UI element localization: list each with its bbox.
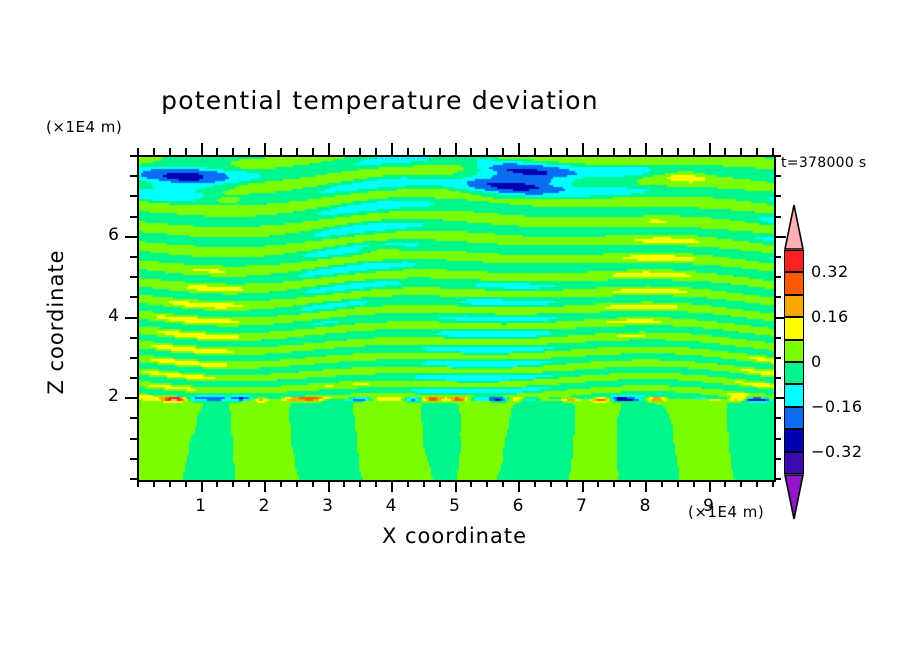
x-major-tick bbox=[391, 480, 393, 492]
y-major-tick bbox=[125, 236, 137, 238]
x-minor-tick bbox=[185, 480, 187, 487]
y-minor-tick-right bbox=[774, 478, 781, 480]
x-minor-tick-top bbox=[772, 148, 774, 155]
x-minor-tick-top bbox=[296, 148, 298, 155]
y-minor-tick-right bbox=[774, 155, 781, 157]
x-minor-tick-top bbox=[232, 148, 234, 155]
x-minor-tick bbox=[502, 480, 504, 487]
x-minor-tick bbox=[169, 480, 171, 487]
x-minor-tick-top bbox=[724, 148, 726, 155]
y-minor-tick-right bbox=[774, 458, 781, 460]
x-minor-tick bbox=[312, 480, 314, 487]
y-minor-tick-right bbox=[774, 256, 781, 258]
y-major-tick bbox=[125, 397, 137, 399]
y-minor-tick bbox=[130, 276, 137, 278]
x-minor-tick-top bbox=[566, 148, 568, 155]
y-tick-label: 2 bbox=[89, 386, 119, 406]
x-tick-label: 6 bbox=[503, 496, 533, 516]
x-minor-tick bbox=[661, 480, 663, 487]
x-minor-tick-top bbox=[740, 148, 742, 155]
y-minor-tick bbox=[130, 296, 137, 298]
contour-plot-area bbox=[137, 155, 776, 482]
y-minor-tick bbox=[130, 357, 137, 359]
page-title: potential temperature deviation bbox=[0, 86, 760, 115]
x-major-tick bbox=[201, 480, 203, 492]
y-minor-tick bbox=[130, 458, 137, 460]
timestamp-annotation: t=378000 s bbox=[781, 155, 866, 171]
x-major-tick-top bbox=[582, 143, 584, 155]
x-minor-tick-top bbox=[550, 148, 552, 155]
colorbar-tick-label: 0 bbox=[811, 352, 822, 371]
x-major-tick bbox=[645, 480, 647, 492]
colorbar-band bbox=[784, 362, 804, 384]
x-minor-tick-top bbox=[502, 148, 504, 155]
colorbar-band bbox=[784, 272, 804, 294]
y-minor-tick bbox=[130, 337, 137, 339]
colorbar-band bbox=[784, 384, 804, 406]
y-minor-tick-right bbox=[774, 417, 781, 419]
x-minor-tick bbox=[216, 480, 218, 487]
x-minor-tick-top bbox=[486, 148, 488, 155]
x-minor-tick-top bbox=[359, 148, 361, 155]
y-minor-tick-right bbox=[774, 195, 781, 197]
y-minor-tick-right bbox=[774, 337, 781, 339]
colorbar-tick-label: −0.16 bbox=[811, 397, 863, 416]
colorbar-tick-label: 0.32 bbox=[811, 262, 849, 281]
colorbar-band bbox=[784, 317, 804, 339]
y-minor-tick-right bbox=[774, 438, 781, 440]
x-minor-tick-top bbox=[693, 148, 695, 155]
x-minor-tick bbox=[740, 480, 742, 487]
contour-field-canvas bbox=[139, 157, 774, 480]
y-minor-tick bbox=[130, 478, 137, 480]
colorbar-band bbox=[784, 452, 804, 474]
x-minor-tick bbox=[693, 480, 695, 487]
y-major-tick bbox=[125, 317, 137, 319]
x-minor-tick-top bbox=[629, 148, 631, 155]
x-minor-tick bbox=[629, 480, 631, 487]
x-major-tick-top bbox=[518, 143, 520, 155]
x-minor-tick-top bbox=[185, 148, 187, 155]
x-minor-tick bbox=[756, 480, 758, 487]
x-major-tick-top bbox=[391, 143, 393, 155]
y-minor-tick-right bbox=[774, 175, 781, 177]
x-minor-tick bbox=[534, 480, 536, 487]
y-axis-units-label: (×1E4 m) bbox=[46, 118, 122, 136]
x-minor-tick bbox=[359, 480, 361, 487]
colorbar-band bbox=[784, 429, 804, 451]
x-major-tick bbox=[455, 480, 457, 492]
x-minor-tick-top bbox=[248, 148, 250, 155]
y-minor-tick bbox=[130, 438, 137, 440]
x-minor-tick bbox=[613, 480, 615, 487]
y-minor-tick bbox=[130, 256, 137, 258]
x-major-tick-top bbox=[328, 143, 330, 155]
y-tick-label: 4 bbox=[89, 306, 119, 326]
x-minor-tick bbox=[375, 480, 377, 487]
x-minor-tick bbox=[137, 480, 139, 487]
x-major-tick bbox=[582, 480, 584, 492]
y-minor-tick bbox=[130, 216, 137, 218]
x-minor-tick bbox=[232, 480, 234, 487]
x-minor-tick-top bbox=[534, 148, 536, 155]
x-minor-tick bbox=[407, 480, 409, 487]
x-major-tick-top bbox=[709, 143, 711, 155]
x-minor-tick-top bbox=[407, 148, 409, 155]
x-minor-tick-top bbox=[343, 148, 345, 155]
colorbar-tick-label: −0.32 bbox=[811, 442, 863, 461]
colorbar-under-arrow bbox=[784, 474, 804, 520]
x-tick-label: 3 bbox=[313, 496, 343, 516]
y-minor-tick bbox=[130, 175, 137, 177]
x-major-tick bbox=[709, 480, 711, 492]
x-minor-tick bbox=[423, 480, 425, 487]
x-major-tick-top bbox=[264, 143, 266, 155]
colorbar-band bbox=[784, 295, 804, 317]
x-minor-tick bbox=[343, 480, 345, 487]
x-minor-tick bbox=[677, 480, 679, 487]
y-minor-tick-right bbox=[774, 276, 781, 278]
x-minor-tick-top bbox=[423, 148, 425, 155]
x-major-tick bbox=[518, 480, 520, 492]
x-major-tick bbox=[264, 480, 266, 492]
x-minor-tick bbox=[486, 480, 488, 487]
x-minor-tick bbox=[597, 480, 599, 487]
x-major-tick-top bbox=[455, 143, 457, 155]
x-minor-tick-top bbox=[375, 148, 377, 155]
x-minor-tick-top bbox=[312, 148, 314, 155]
x-minor-tick-top bbox=[280, 148, 282, 155]
x-minor-tick-top bbox=[470, 148, 472, 155]
x-tick-label: 1 bbox=[186, 496, 216, 516]
colorbar-band bbox=[784, 250, 804, 272]
x-tick-label: 8 bbox=[630, 496, 660, 516]
x-axis-title: X coordinate bbox=[277, 524, 632, 548]
x-tick-label: 9 bbox=[694, 496, 724, 516]
colorbar-tick-label: 0.16 bbox=[811, 307, 849, 326]
x-minor-tick bbox=[153, 480, 155, 487]
x-tick-label: 2 bbox=[249, 496, 279, 516]
y-minor-tick-right bbox=[774, 216, 781, 218]
y-minor-tick-right bbox=[774, 357, 781, 359]
x-minor-tick-top bbox=[216, 148, 218, 155]
x-minor-tick-top bbox=[597, 148, 599, 155]
x-minor-tick bbox=[296, 480, 298, 487]
x-minor-tick bbox=[724, 480, 726, 487]
x-tick-label: 5 bbox=[440, 496, 470, 516]
y-minor-tick bbox=[130, 377, 137, 379]
x-minor-tick bbox=[566, 480, 568, 487]
x-minor-tick-top bbox=[169, 148, 171, 155]
y-minor-tick bbox=[130, 155, 137, 157]
x-major-tick bbox=[328, 480, 330, 492]
x-minor-tick-top bbox=[137, 148, 139, 155]
y-minor-tick bbox=[130, 195, 137, 197]
x-minor-tick-top bbox=[613, 148, 615, 155]
x-minor-tick bbox=[470, 480, 472, 487]
x-minor-tick bbox=[439, 480, 441, 487]
colorbar: 0.320.160−0.16−0.32 bbox=[784, 204, 804, 520]
x-major-tick-top bbox=[645, 143, 647, 155]
colorbar-band bbox=[784, 407, 804, 429]
colorbar-band bbox=[784, 340, 804, 362]
x-tick-label: 4 bbox=[376, 496, 406, 516]
x-minor-tick bbox=[280, 480, 282, 487]
x-minor-tick bbox=[550, 480, 552, 487]
y-minor-tick-right bbox=[774, 377, 781, 379]
x-minor-tick-top bbox=[153, 148, 155, 155]
x-minor-tick-top bbox=[677, 148, 679, 155]
x-minor-tick-top bbox=[756, 148, 758, 155]
colorbar-over-arrow bbox=[784, 204, 804, 250]
x-minor-tick bbox=[772, 480, 774, 487]
x-minor-tick-top bbox=[439, 148, 441, 155]
y-axis-title: Z coordinate bbox=[44, 227, 68, 417]
x-tick-label: 7 bbox=[567, 496, 597, 516]
x-major-tick-top bbox=[201, 143, 203, 155]
x-minor-tick-top bbox=[661, 148, 663, 155]
y-minor-tick bbox=[130, 417, 137, 419]
y-minor-tick-right bbox=[774, 296, 781, 298]
x-minor-tick bbox=[248, 480, 250, 487]
y-tick-label: 6 bbox=[89, 225, 119, 245]
